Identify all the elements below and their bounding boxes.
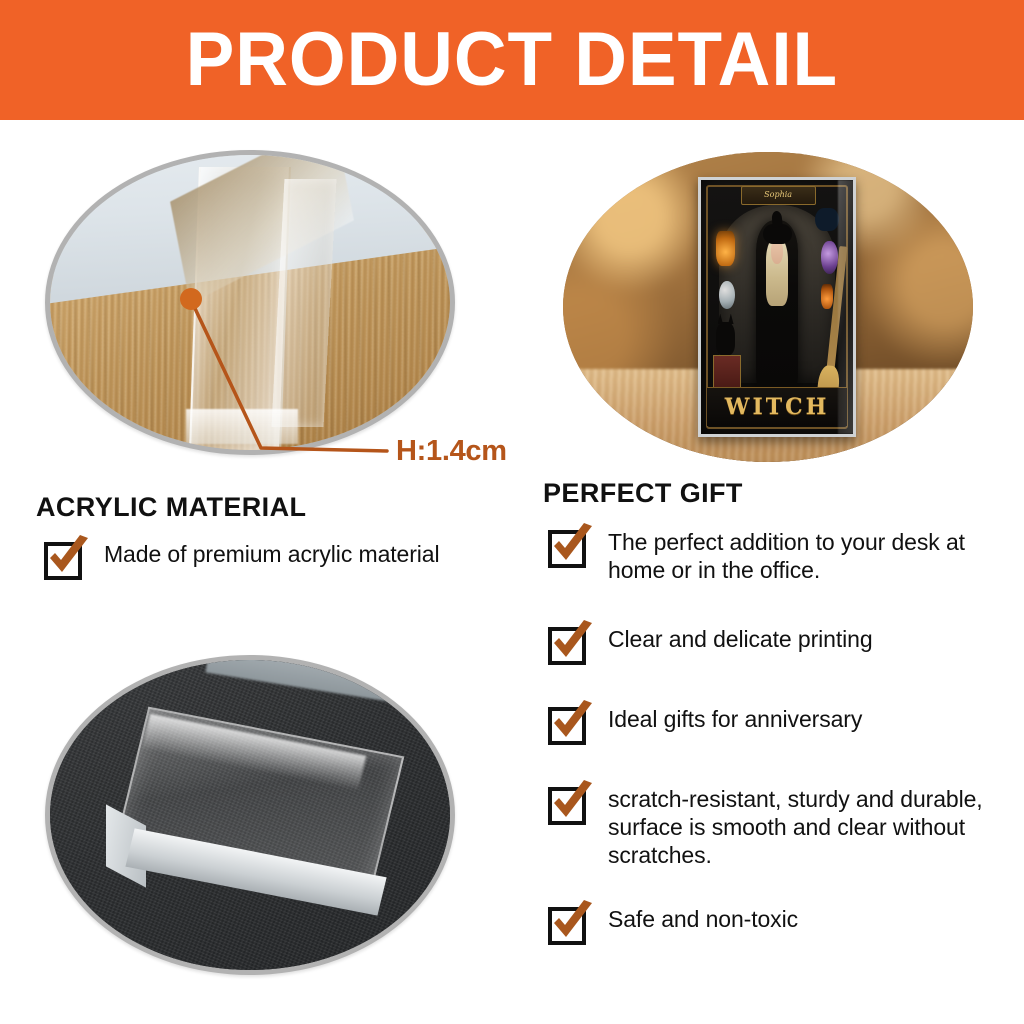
checkbox-checked-icon bbox=[548, 707, 586, 745]
name-plate-text: Sophia bbox=[764, 191, 792, 199]
thickness-marker-dot bbox=[180, 288, 202, 310]
feature-text: scratch-resistant, sturdy and durable, s… bbox=[608, 785, 998, 869]
section-title-perfect-gift: PERFECT GIFT bbox=[543, 478, 743, 509]
checkbox-checked-icon bbox=[44, 542, 82, 580]
feature-item: scratch-resistant, sturdy and durable, s… bbox=[548, 785, 998, 869]
feature-text: Ideal gifts for anniversary bbox=[608, 705, 862, 733]
small-witch-hat-icon bbox=[815, 208, 839, 231]
witch-figure bbox=[756, 220, 798, 388]
checkbox-checked-icon bbox=[548, 530, 586, 568]
section-title-acrylic-material: ACRYLIC MATERIAL bbox=[36, 492, 306, 523]
product-detail-page: PRODUCT DETAIL H:1.4cm Sophia bbox=[0, 0, 1024, 1024]
page-title: PRODUCT DETAIL bbox=[186, 22, 838, 98]
checkbox-checked-icon bbox=[548, 907, 586, 945]
small-lantern-icon bbox=[821, 284, 833, 309]
feature-item: Ideal gifts for anniversary bbox=[548, 705, 988, 745]
name-plate: Sophia bbox=[741, 186, 816, 205]
feature-text: The perfect addition to your desk at hom… bbox=[608, 528, 988, 584]
checkbox-checked-icon bbox=[548, 787, 586, 825]
feature-item: Made of premium acrylic material bbox=[44, 540, 514, 580]
black-cat-icon bbox=[716, 322, 734, 355]
feature-item: Safe and non-toxic bbox=[548, 905, 988, 945]
feature-item: Clear and delicate printing bbox=[548, 625, 988, 665]
checkbox-checked-icon bbox=[548, 627, 586, 665]
plastic-wrap-sheen bbox=[838, 180, 856, 434]
feature-item: The perfect addition to your desk at hom… bbox=[548, 528, 988, 584]
plaque-bottom-banner: WITCH bbox=[707, 387, 847, 426]
acrylic-base-highlight bbox=[186, 409, 298, 444]
acrylic-plaque: Sophia WITCH bbox=[698, 177, 856, 437]
feature-text: Safe and non-toxic bbox=[608, 905, 798, 933]
potion-bottle-icon bbox=[821, 241, 838, 274]
witch-plaque-product-photo: Sophia WITCH bbox=[563, 152, 973, 462]
crystal-ball-icon bbox=[719, 281, 734, 309]
acrylic-block-on-slate-photo bbox=[45, 655, 455, 975]
header-banner: PRODUCT DETAIL bbox=[0, 0, 1024, 120]
witch-hat-icon bbox=[763, 224, 792, 244]
lantern-icon bbox=[716, 231, 734, 267]
feature-text: Clear and delicate printing bbox=[608, 625, 873, 653]
acrylic-edge-on-wood-photo bbox=[45, 150, 455, 455]
thickness-label: H:1.4cm bbox=[396, 435, 507, 468]
feature-text: Made of premium acrylic material bbox=[104, 540, 440, 568]
plaque-title-text: WITCH bbox=[725, 394, 830, 420]
